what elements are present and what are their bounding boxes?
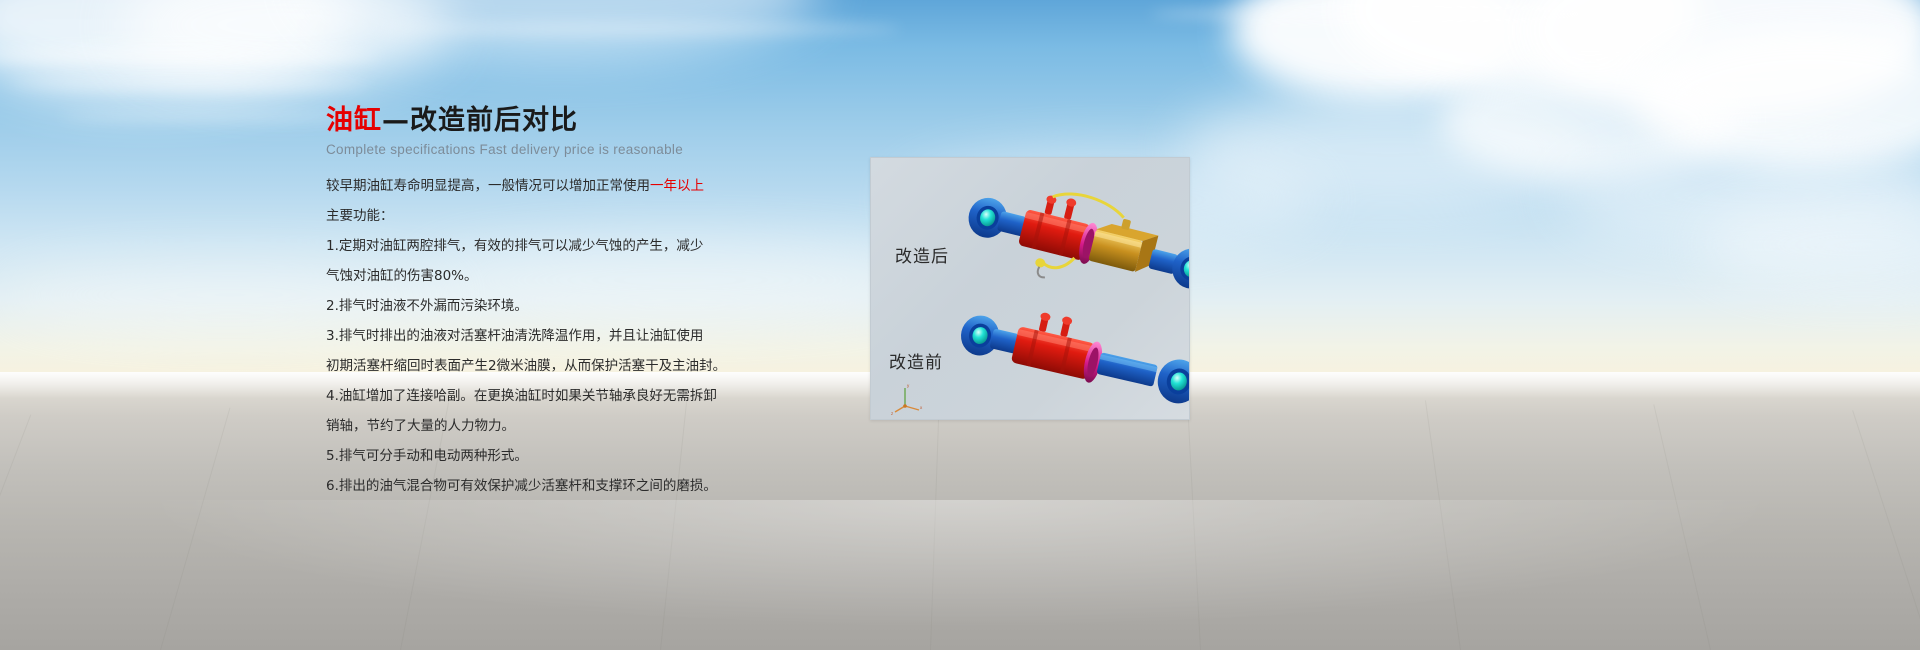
- banner-text-block: 油缸—改造前后对比 Complete specifications Fast d…: [326, 104, 756, 505]
- page-title-rest: —改造前后对比: [382, 105, 578, 136]
- feature-list: 较早期油缸寿命明显提高，一般情况可以增加正常使用一年以上 主要功能： 1.定期对…: [326, 175, 756, 498]
- feature-item-2: 2.排气时油液不外漏而污染环境。: [326, 295, 756, 318]
- intro-line-highlight: 一年以上: [650, 178, 704, 194]
- page-title: 油缸—改造前后对比: [326, 104, 756, 138]
- feature-item-1-cont: 气蚀对油缸的伤害80%。: [326, 265, 756, 288]
- feature-item-5: 5.排气可分手动和电动两种形式。: [326, 445, 756, 468]
- feature-item-3-cont: 初期活塞杆缩回时表面产生2微米油膜，从而保护活塞干及主油封。: [326, 355, 756, 378]
- svg-text:x: x: [920, 405, 923, 410]
- features-heading: 主要功能：: [326, 205, 756, 228]
- feature-item-4-cont: 销轴，节约了大量的人力物力。: [326, 415, 756, 438]
- feature-item-6: 6.排出的油气混合物可有效保护减少活塞杆和支撑环之间的磨损。: [326, 475, 756, 498]
- svg-text:z: z: [891, 411, 894, 416]
- cad-axis-indicator: y x z: [891, 383, 923, 416]
- cylinder-renders: y x z: [871, 158, 1189, 419]
- svg-text:y: y: [907, 383, 910, 388]
- intro-line: 较早期油缸寿命明显提高，一般情况可以增加正常使用一年以上: [326, 175, 756, 198]
- intro-line-text: 较早期油缸寿命明显提高，一般情况可以增加正常使用: [326, 178, 650, 194]
- feature-item-3: 3.排气时排出的油液对活塞杆油清洗降温作用，并且让油缸使用: [326, 325, 756, 348]
- ground-highlight: [0, 500, 1920, 650]
- feature-item-1: 1.定期对油缸两腔排气，有效的排气可以减少气蚀的产生，减少: [326, 235, 756, 258]
- page-title-highlight: 油缸: [326, 105, 382, 136]
- product-comparison-image: 改造后 改造前: [870, 157, 1190, 420]
- hero-banner: 油缸—改造前后对比 Complete specifications Fast d…: [0, 0, 1920, 650]
- feature-item-4: 4.油缸增加了连接哈副。在更换油缸时如果关节轴承良好无需拆卸: [326, 385, 756, 408]
- page-subtitle: Complete specifications Fast delivery pr…: [326, 142, 756, 157]
